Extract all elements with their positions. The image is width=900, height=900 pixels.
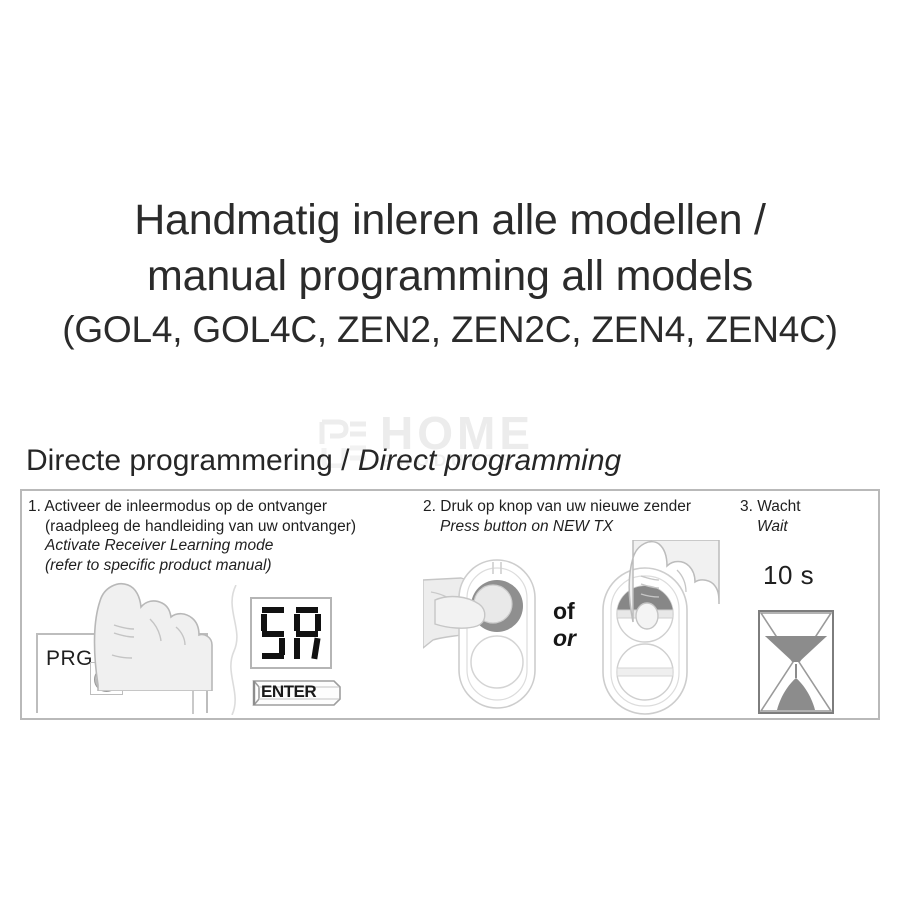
step-1-en-2: (refer to specific product manual) bbox=[28, 556, 418, 576]
step-1-illustration: PRG bbox=[28, 585, 368, 715]
section-heading-separator: / bbox=[341, 444, 349, 477]
step-3-text: 3. Wacht Wait bbox=[740, 497, 880, 536]
step-2-text: 2. Druk op knop van uw nieuwe zender Pre… bbox=[423, 497, 733, 536]
instruction-sheet: HOME PRODUCTS Handmatig inleren alle mod… bbox=[0, 0, 900, 900]
oval-remote-round-buttons-icon[interactable] bbox=[423, 548, 573, 718]
step-3-line-1: 3. Wacht bbox=[740, 497, 880, 517]
enter-button-label: ENTER bbox=[261, 682, 316, 702]
step-1-en-1: Activate Receiver Learning mode bbox=[28, 536, 418, 556]
step-1-nl-1: Activeer de inleermodus op de ontvanger bbox=[44, 498, 327, 515]
step-2-en-1: Press button on NEW TX bbox=[423, 517, 733, 537]
page-title: Handmatig inleren alle modellen / manual… bbox=[0, 192, 900, 356]
section-heading: Directe programmering / Direct programmi… bbox=[26, 443, 621, 479]
step-1-number: 1. bbox=[28, 498, 41, 515]
step-3-number: 3. bbox=[740, 498, 753, 515]
wait-duration: 10 s bbox=[763, 560, 814, 591]
alternative-label-en: or bbox=[553, 625, 576, 652]
step-1-nl-2: (raadpleeg de handleiding van uw ontvang… bbox=[28, 517, 418, 537]
signal-curve-icon bbox=[214, 585, 254, 715]
step-3-en-1: Wait bbox=[740, 517, 880, 537]
step-2-illustration: of or bbox=[423, 540, 733, 720]
step-2-nl-1: Druk op knop van uw nieuwe zender bbox=[440, 498, 691, 515]
step-2-line-1: 2. Druk op knop van uw nieuwe zender bbox=[423, 497, 733, 517]
title-line-nl: Handmatig inleren alle modellen / bbox=[0, 192, 900, 248]
step-3-nl-1: Wacht bbox=[757, 498, 800, 515]
step-2-number: 2. bbox=[423, 498, 436, 515]
section-heading-nl: Directe programmering bbox=[26, 444, 333, 477]
hourglass-icon bbox=[755, 608, 837, 716]
step-1-text: 1. Activeer de inleermodus op de ontvang… bbox=[28, 497, 418, 575]
title-line-en: manual programming all models bbox=[0, 248, 900, 304]
section-heading-en: Direct programming bbox=[358, 444, 621, 477]
seven-segment-display-icon bbox=[260, 605, 324, 661]
oval-remote-split-buttons-icon[interactable] bbox=[589, 540, 739, 718]
alternative-label: of or bbox=[553, 598, 576, 652]
step-3-illustration: 10 s bbox=[745, 560, 875, 720]
step-1-line-1: 1. Activeer de inleermodus op de ontvang… bbox=[28, 497, 418, 517]
title-models: (GOL4, GOL4C, ZEN2, ZEN2C, ZEN4, ZEN4C) bbox=[0, 304, 900, 356]
alternative-label-nl: of bbox=[553, 598, 575, 624]
pressing-hand-icon bbox=[84, 581, 214, 691]
